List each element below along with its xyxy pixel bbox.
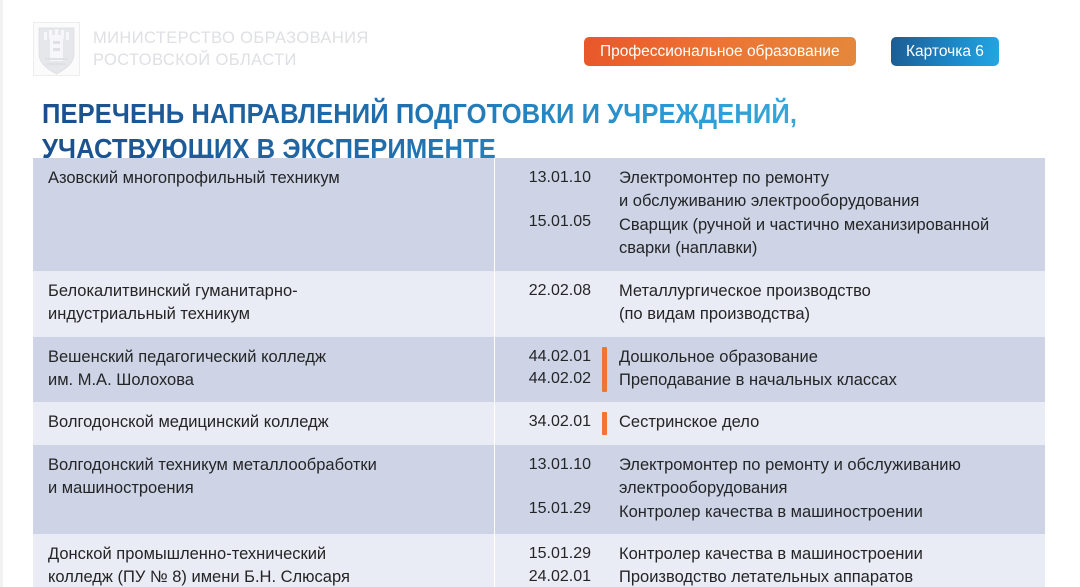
cell-specialty-codes: 34.02.01 xyxy=(495,402,599,444)
table-row: Волгодонский техникум металлообработкии … xyxy=(33,445,1045,534)
program-description-line: Контролер качества в машиностроении xyxy=(619,501,1035,524)
marker-spacer xyxy=(599,158,611,271)
cell-specialty-codes: 15.01.2924.02.01 xyxy=(495,534,599,587)
program-description-line: Электромонтер по ремонту и обслуживанию xyxy=(619,454,1035,477)
cell-specialty-codes: 13.01.1015.01.05 xyxy=(495,158,599,271)
cell-program-descriptions: Контролер качества в машиностроенииПроиз… xyxy=(611,534,1045,587)
cell-institution-name: Вешенский педагогический колледжим. М.А.… xyxy=(33,337,495,403)
specialty-code: 44.02.01 xyxy=(495,346,591,369)
institution-name-line: колледж (ПУ № 8) имени Б.Н. Слюсаря xyxy=(48,566,483,587)
program-description-line: Преподавание в начальных классах xyxy=(619,369,1035,392)
program-description-line: Контролер качества в машиностроении xyxy=(619,543,1035,566)
specialty-code: 24.02.01 xyxy=(495,566,591,587)
cell-program-descriptions: Сестринское дело xyxy=(611,402,1045,444)
specialty-code: 13.01.10 xyxy=(495,454,591,477)
slide-left-edge xyxy=(0,0,3,587)
institution-name-line: им. М.А. Шолохова xyxy=(48,369,483,392)
cell-institution-name: Волгодонский техникум металлообработкии … xyxy=(33,445,495,534)
program-description-line: Сварщик (ручной и частично механизирован… xyxy=(619,214,1035,237)
institution-name-line: Вешенский педагогический колледж xyxy=(48,346,483,369)
program-description-line: Сестринское дело xyxy=(619,411,1035,434)
program-description-line: электрооборудования xyxy=(619,477,1035,500)
specialty-code: 15.01.05 xyxy=(495,211,591,234)
marker-spacer xyxy=(599,271,611,337)
institutions-table: Азовский многопрофильный техникум13.01.1… xyxy=(33,158,1045,587)
orange-marker-bar xyxy=(599,402,611,444)
cell-institution-name: Азовский многопрофильный техникум xyxy=(33,158,495,271)
marker-spacer xyxy=(599,445,611,534)
specialty-code: 34.02.01 xyxy=(495,411,591,434)
cell-specialty-codes: 13.01.1015.01.29 xyxy=(495,445,599,534)
institution-name-line: Белокалитвинский гуманитарно- xyxy=(48,280,483,303)
coat-of-arms-rostov-icon xyxy=(33,22,80,76)
program-description-line: (по видам производства) xyxy=(619,303,1035,326)
institution-name-line: Донской промышленно-технический xyxy=(48,543,483,566)
table-row: Донской промышленно-техническийколледж (… xyxy=(33,534,1045,587)
cell-institution-name: Волгодонской медицинский колледж xyxy=(33,402,495,444)
table-row: Волгодонской медицинский колледж34.02.01… xyxy=(33,402,1045,444)
program-description-line: Дошкольное образование xyxy=(619,346,1035,369)
program-description-line: и обслуживанию электрооборудования xyxy=(619,190,1035,213)
orange-marker-icon xyxy=(602,412,607,434)
specialty-code: 15.01.29 xyxy=(495,543,591,566)
cell-program-descriptions: Металлургическое производство(по видам п… xyxy=(611,271,1045,337)
cell-specialty-codes: 22.02.08 xyxy=(495,271,599,337)
specialty-code: 15.01.29 xyxy=(495,498,591,521)
specialty-code: 22.02.08 xyxy=(495,280,591,303)
cell-program-descriptions: Электромонтер по ремонтуи обслуживанию э… xyxy=(611,158,1045,271)
cell-program-descriptions: Дошкольное образованиеПреподавание в нач… xyxy=(611,337,1045,403)
ministry-brand: МИНИСТЕРСТВО ОБРАЗОВАНИЯ РОСТОВСКОЙ ОБЛА… xyxy=(33,22,369,76)
page-title-line-1: ПЕРЕЧЕНЬ НАПРАВЛЕНИЙ ПОДГОТОВКИ И УЧРЕЖД… xyxy=(42,96,963,131)
cell-specialty-codes: 44.02.0144.02.02 xyxy=(495,337,599,403)
page-title: ПЕРЕЧЕНЬ НАПРАВЛЕНИЙ ПОДГОТОВКИ И УЧРЕЖД… xyxy=(42,96,1032,166)
slide-canvas: МИНИСТЕРСТВО ОБРАЗОВАНИЯ РОСТОВСКОЙ ОБЛА… xyxy=(0,0,1080,587)
table-row: Белокалитвинский гуманитарно-индустриаль… xyxy=(33,271,1045,337)
specialty-code: 13.01.10 xyxy=(495,167,591,190)
institution-name-line: индустриальный техникум xyxy=(48,303,483,326)
institution-name-line: Волгодонский техникум металлообработки xyxy=(48,454,483,477)
badge-card-number: Карточка 6 xyxy=(891,37,999,66)
orange-marker-icon xyxy=(602,347,607,393)
program-description-line: Производство летательных аппаратов xyxy=(619,566,1035,587)
ministry-name: МИНИСТЕРСТВО ОБРАЗОВАНИЯ РОСТОВСКОЙ ОБЛА… xyxy=(93,29,369,69)
ministry-line-2: РОСТОВСКОЙ ОБЛАСТИ xyxy=(93,51,369,69)
orange-marker-bar xyxy=(599,337,611,403)
cell-program-descriptions: Электромонтер по ремонту и обслуживаниюэ… xyxy=(611,445,1045,534)
cell-institution-name: Белокалитвинский гуманитарно-индустриаль… xyxy=(33,271,495,337)
institution-name-line: Волгодонской медицинский колледж xyxy=(48,411,483,434)
institution-name-line: и машиностроения xyxy=(48,477,483,500)
badge-category: Профессиональное образование xyxy=(584,37,856,66)
program-description-line: сварки (наплавки) xyxy=(619,237,1035,260)
program-description-line: Электромонтер по ремонту xyxy=(619,167,1035,190)
marker-spacer xyxy=(599,534,611,587)
program-description-line: Металлургическое производство xyxy=(619,280,1035,303)
table-row: Азовский многопрофильный техникум13.01.1… xyxy=(33,158,1045,271)
institution-name-line: Азовский многопрофильный техникум xyxy=(48,167,483,190)
slide-header: МИНИСТЕРСТВО ОБРАЗОВАНИЯ РОСТОВСКОЙ ОБЛА… xyxy=(33,22,1045,84)
table-row: Вешенский педагогический колледжим. М.А.… xyxy=(33,337,1045,403)
cell-institution-name: Донской промышленно-техническийколледж (… xyxy=(33,534,495,587)
ministry-line-1: МИНИСТЕРСТВО ОБРАЗОВАНИЯ xyxy=(93,29,369,47)
specialty-code: 44.02.02 xyxy=(495,368,591,391)
